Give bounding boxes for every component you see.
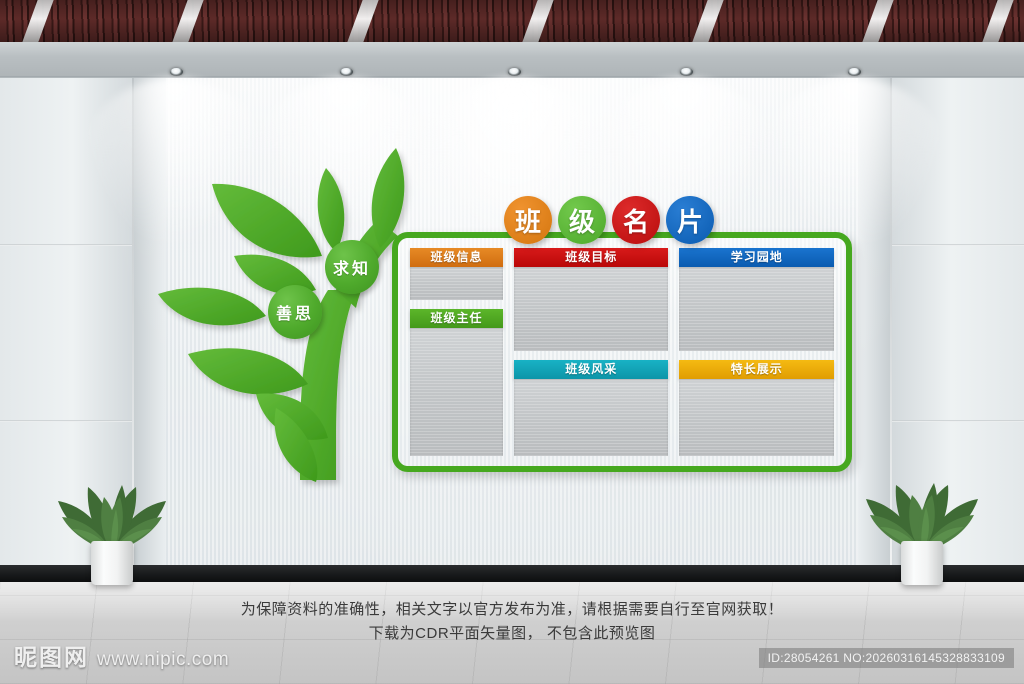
class-card-board: 班级信息 班级主任 班级目标 班级风采: [392, 232, 852, 472]
section-label: 班级信息: [430, 250, 482, 264]
title-circle-ming[interactable]: 名: [612, 196, 660, 244]
section-body-class-info: [410, 267, 503, 300]
watermark-url: www.nipic.com: [97, 649, 229, 671]
section-body-talent-display: [679, 379, 834, 456]
title-circle-ji[interactable]: 级: [558, 196, 606, 244]
board-column-middle: 班级目标 班级风采: [514, 248, 669, 456]
ceiling-slats: [0, 0, 1024, 42]
watermark-brand: 昵图网: [14, 638, 89, 672]
tree-badge-label: 善思: [276, 300, 314, 324]
section-body-class-style: [514, 379, 669, 456]
wall-seam: [892, 244, 1024, 246]
section-label: 班级风采: [565, 362, 617, 376]
plant-pot: [91, 541, 133, 585]
title-char: 片: [677, 202, 703, 239]
wall-seam: [0, 244, 132, 246]
section-header-class-style[interactable]: 班级风采: [514, 360, 669, 379]
section-header-class-goal[interactable]: 班级目标: [514, 248, 669, 267]
section-body-class-teacher: [410, 328, 503, 456]
tree-badge-qiuzhi[interactable]: 求知: [325, 240, 379, 294]
wall-seam: [892, 420, 1024, 422]
section-header-talent-display[interactable]: 特长展示: [679, 360, 834, 379]
downlight-icon: [340, 68, 353, 76]
downlight-icon: [848, 68, 861, 76]
potted-plant-left: [42, 470, 182, 585]
section-body-class-goal: [514, 267, 669, 351]
section-label: 学习园地: [731, 250, 783, 264]
section-label: 班级目标: [565, 250, 617, 264]
section-header-class-info[interactable]: 班级信息: [410, 248, 503, 267]
asset-id-tag: ID:28054261 NO:20260316145328833109: [759, 648, 1014, 668]
downlight-icon: [508, 68, 521, 76]
plant-pot: [901, 541, 943, 585]
tree-badge-label: 求知: [333, 255, 371, 279]
board-column-left: 班级信息 班级主任: [410, 248, 503, 456]
title-char: 级: [569, 202, 595, 239]
downlight-icon: [680, 68, 693, 76]
section-header-class-teacher[interactable]: 班级主任: [410, 309, 503, 328]
section-header-study-garden[interactable]: 学习园地: [679, 248, 834, 267]
board-title: 班 级 名 片: [504, 196, 714, 244]
wall-seam: [0, 420, 132, 422]
section-label: 特长展示: [731, 362, 783, 376]
section-body-study-garden: [679, 267, 834, 351]
title-circle-ban[interactable]: 班: [504, 196, 552, 244]
disclaimer-line-1: 为保障资料的准确性，相关文字以官方发布为准，请根据需要自行至官网获取！: [0, 598, 1024, 622]
board-column-right: 学习园地 特长展示: [679, 248, 834, 456]
section-label: 班级主任: [430, 311, 482, 325]
potted-plant-right: [852, 470, 992, 585]
scene-root: 求知 善思 班级信息 班级主任: [0, 0, 1024, 684]
title-circle-pian[interactable]: 片: [666, 196, 714, 244]
title-char: 名: [623, 202, 649, 239]
tree-badge-shansi[interactable]: 善思: [268, 285, 322, 339]
title-char: 班: [515, 202, 541, 239]
downlight-icon: [170, 68, 183, 76]
watermark: 昵图网 www.nipic.com: [14, 638, 229, 672]
